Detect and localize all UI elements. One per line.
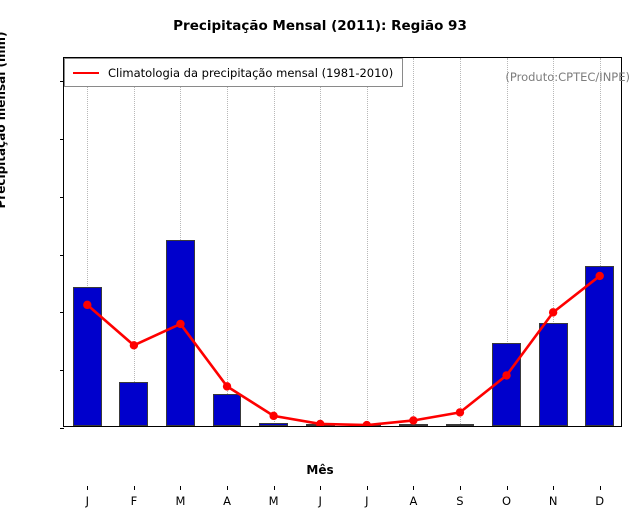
y-tick-mark bbox=[60, 428, 64, 429]
legend-label: Climatologia da precipitação mensal (198… bbox=[108, 66, 393, 80]
x-tick-label-s-8: S bbox=[440, 494, 480, 508]
x-tick-mark bbox=[553, 486, 554, 490]
bar-j-6 bbox=[352, 424, 381, 426]
gridline-vertical bbox=[460, 58, 462, 426]
y-tick-mark bbox=[60, 312, 64, 313]
x-tick-mark bbox=[134, 486, 135, 490]
y-tick-mark bbox=[60, 370, 64, 371]
bar-m-4 bbox=[259, 423, 288, 426]
x-tick-mark bbox=[460, 486, 461, 490]
x-tick-label-m-2: M bbox=[160, 494, 200, 508]
bar-s-8 bbox=[446, 424, 475, 426]
x-tick-mark bbox=[274, 486, 275, 490]
bar-o-9 bbox=[492, 343, 521, 426]
x-tick-label-j-6: J bbox=[347, 494, 387, 508]
gridline-vertical bbox=[274, 58, 276, 426]
climatology-line bbox=[87, 276, 599, 425]
x-tick-mark bbox=[320, 486, 321, 490]
produto-note: (Produto:CPTEC/INPE) bbox=[505, 70, 630, 84]
x-tick-label-j-5: J bbox=[300, 494, 340, 508]
y-tick-mark bbox=[60, 255, 64, 256]
gridline-vertical bbox=[320, 58, 322, 426]
bar-m-2 bbox=[166, 240, 195, 426]
climatology-line-series bbox=[64, 58, 621, 426]
gridline-vertical bbox=[413, 58, 415, 426]
bar-a-3 bbox=[213, 394, 242, 426]
x-tick-label-a-3: A bbox=[207, 494, 247, 508]
bar-n-10 bbox=[539, 323, 568, 426]
x-tick-label-a-7: A bbox=[393, 494, 433, 508]
x-tick-label-m-4: M bbox=[254, 494, 294, 508]
x-axis-label: Mês bbox=[0, 463, 640, 477]
plot-area: 0100200300400500600 JFMAMJJASOND bbox=[63, 57, 622, 427]
bar-j-5 bbox=[306, 424, 335, 426]
x-tick-mark bbox=[413, 486, 414, 490]
x-tick-mark bbox=[600, 486, 601, 490]
x-tick-label-f-1: F bbox=[114, 494, 154, 508]
x-tick-mark bbox=[507, 486, 508, 490]
chart-figure: Precipitação Mensal (2011): Região 93 01… bbox=[0, 0, 640, 500]
bar-f-1 bbox=[119, 382, 148, 426]
gridline-vertical bbox=[227, 58, 229, 426]
x-tick-mark bbox=[227, 486, 228, 490]
x-tick-label-d-11: D bbox=[580, 494, 620, 508]
bar-a-7 bbox=[399, 424, 428, 426]
x-tick-label-n-10: N bbox=[533, 494, 573, 508]
y-tick-mark bbox=[60, 197, 64, 198]
gridline-vertical bbox=[134, 58, 136, 426]
x-tick-label-j-0: J bbox=[67, 494, 107, 508]
bar-d-11 bbox=[585, 266, 614, 426]
legend-line-swatch bbox=[73, 72, 99, 74]
bar-j-0 bbox=[73, 287, 102, 426]
x-tick-mark bbox=[180, 486, 181, 490]
x-tick-mark bbox=[87, 486, 88, 490]
y-axis-label: Precipitação mensal (mm) bbox=[0, 0, 8, 240]
x-tick-label-o-9: O bbox=[487, 494, 527, 508]
chart-legend: Climatologia da precipitação mensal (198… bbox=[64, 58, 403, 87]
x-tick-mark bbox=[367, 486, 368, 490]
chart-title: Precipitação Mensal (2011): Região 93 bbox=[0, 18, 640, 34]
y-tick-mark bbox=[60, 139, 64, 140]
gridline-vertical bbox=[367, 58, 369, 426]
plot-inner bbox=[64, 58, 621, 426]
